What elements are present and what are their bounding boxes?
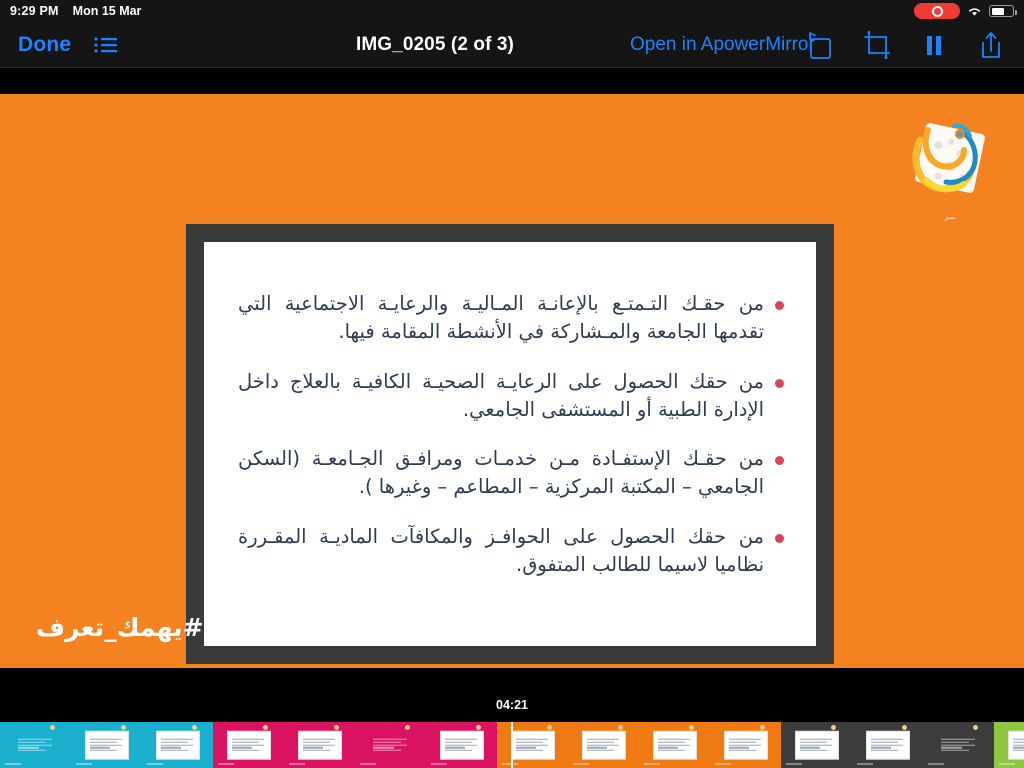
- bullet-dot-icon: [775, 456, 784, 465]
- slide-card: من حقـك التـمتـع بالإعانـة المـاليـة وال…: [204, 242, 816, 646]
- pause-icon[interactable]: [919, 29, 949, 61]
- slide-card-frame: من حقـك التـمتـع بالإعانـة المـاليـة وال…: [186, 224, 834, 664]
- filmstrip-thumbnail[interactable]: [994, 722, 1024, 768]
- status-time: 9:29 PM: [10, 4, 59, 18]
- status-date: Mon 15 Mar: [73, 4, 142, 18]
- photo-title: IMG_0205 (2 of 3): [356, 34, 514, 55]
- university-logo: تميز: [902, 110, 998, 220]
- filmstrip-thumbnail[interactable]: [284, 722, 355, 768]
- logo-caption: تميز: [902, 213, 998, 221]
- filmstrip-thumbnail[interactable]: [71, 722, 142, 768]
- bullet-dot-icon: [775, 534, 784, 543]
- list-item: من حقك الحصول على الحوافـز والمكافآت الم…: [238, 523, 784, 580]
- crop-icon[interactable]: [862, 29, 892, 61]
- timeline-timestamp: 04:21: [0, 698, 1024, 712]
- photo-area[interactable]: تميز من حقـك التـمتـع بالإعانـة المـاليـ…: [0, 68, 1024, 694]
- filmstrip-thumbnail[interactable]: [142, 722, 213, 768]
- photo-viewer-screen: 9:29 PM Mon 15 Mar Done: [0, 0, 1024, 768]
- filmstrip-thumbnail[interactable]: [0, 722, 71, 768]
- bullet-text: من حقك الحصول على الحوافـز والمكافآت الم…: [238, 523, 764, 580]
- slide-image: تميز من حقـك التـمتـع بالإعانـة المـاليـ…: [0, 94, 1024, 668]
- filmstrip-thumbnail[interactable]: [426, 722, 497, 768]
- share-icon[interactable]: [976, 29, 1006, 61]
- filmstrip-thumbnail[interactable]: [355, 722, 426, 768]
- filmstrip-thumbnail[interactable]: [710, 722, 781, 768]
- filmstrip-thumbnail[interactable]: [497, 722, 568, 768]
- list-item: من حقك الحصول على الرعايـة الصحيـة الكاف…: [238, 368, 784, 425]
- bullet-text: من حقـك التـمتـع بالإعانـة المـاليـة وال…: [238, 290, 764, 347]
- viewer-toolbar: Done IMG_0205 (2 of 3) Open in ApowerMir…: [0, 22, 1024, 68]
- status-bar: 9:29 PM Mon 15 Mar: [0, 0, 1024, 22]
- filmstrip-thumbnail[interactable]: [639, 722, 710, 768]
- bullet-dot-icon: [775, 379, 784, 388]
- wifi-icon: [967, 6, 982, 17]
- list-item: من حقـك التـمتـع بالإعانـة المـاليـة وال…: [238, 290, 784, 347]
- bullet-text: من حقـك الإستفـادة مـن خدمـات ومرافـق ال…: [238, 445, 764, 502]
- filmstrip-thumbnail[interactable]: [213, 722, 284, 768]
- bullet-dot-icon: [775, 301, 784, 310]
- filmstrip-thumbnail[interactable]: [781, 722, 852, 768]
- record-indicator-icon: [914, 3, 960, 19]
- battery-icon: [989, 5, 1014, 17]
- open-in-apowermirror-link[interactable]: Open in ApowerMirror: [630, 34, 815, 56]
- done-button[interactable]: Done: [18, 33, 71, 57]
- filmstrip-thumbnail[interactable]: [852, 722, 923, 768]
- bullet-list: من حقـك التـمتـع بالإعانـة المـاليـة وال…: [238, 290, 784, 579]
- hashtag-label: #يهمك_تعرف: [36, 613, 203, 642]
- status-indicators: [914, 3, 1014, 19]
- toolbar-actions: [805, 29, 1006, 61]
- filmstrip-thumbnail[interactable]: [923, 722, 994, 768]
- playhead[interactable]: [511, 722, 513, 768]
- list-item: من حقـك الإستفـادة مـن خدمـات ومرافـق ال…: [238, 445, 784, 502]
- bullet-text: من حقك الحصول على الرعايـة الصحيـة الكاف…: [238, 368, 764, 425]
- list-icon[interactable]: [93, 34, 119, 56]
- filmstrip-thumbnail[interactable]: [568, 722, 639, 768]
- video-timeline[interactable]: 04:21: [0, 694, 1024, 768]
